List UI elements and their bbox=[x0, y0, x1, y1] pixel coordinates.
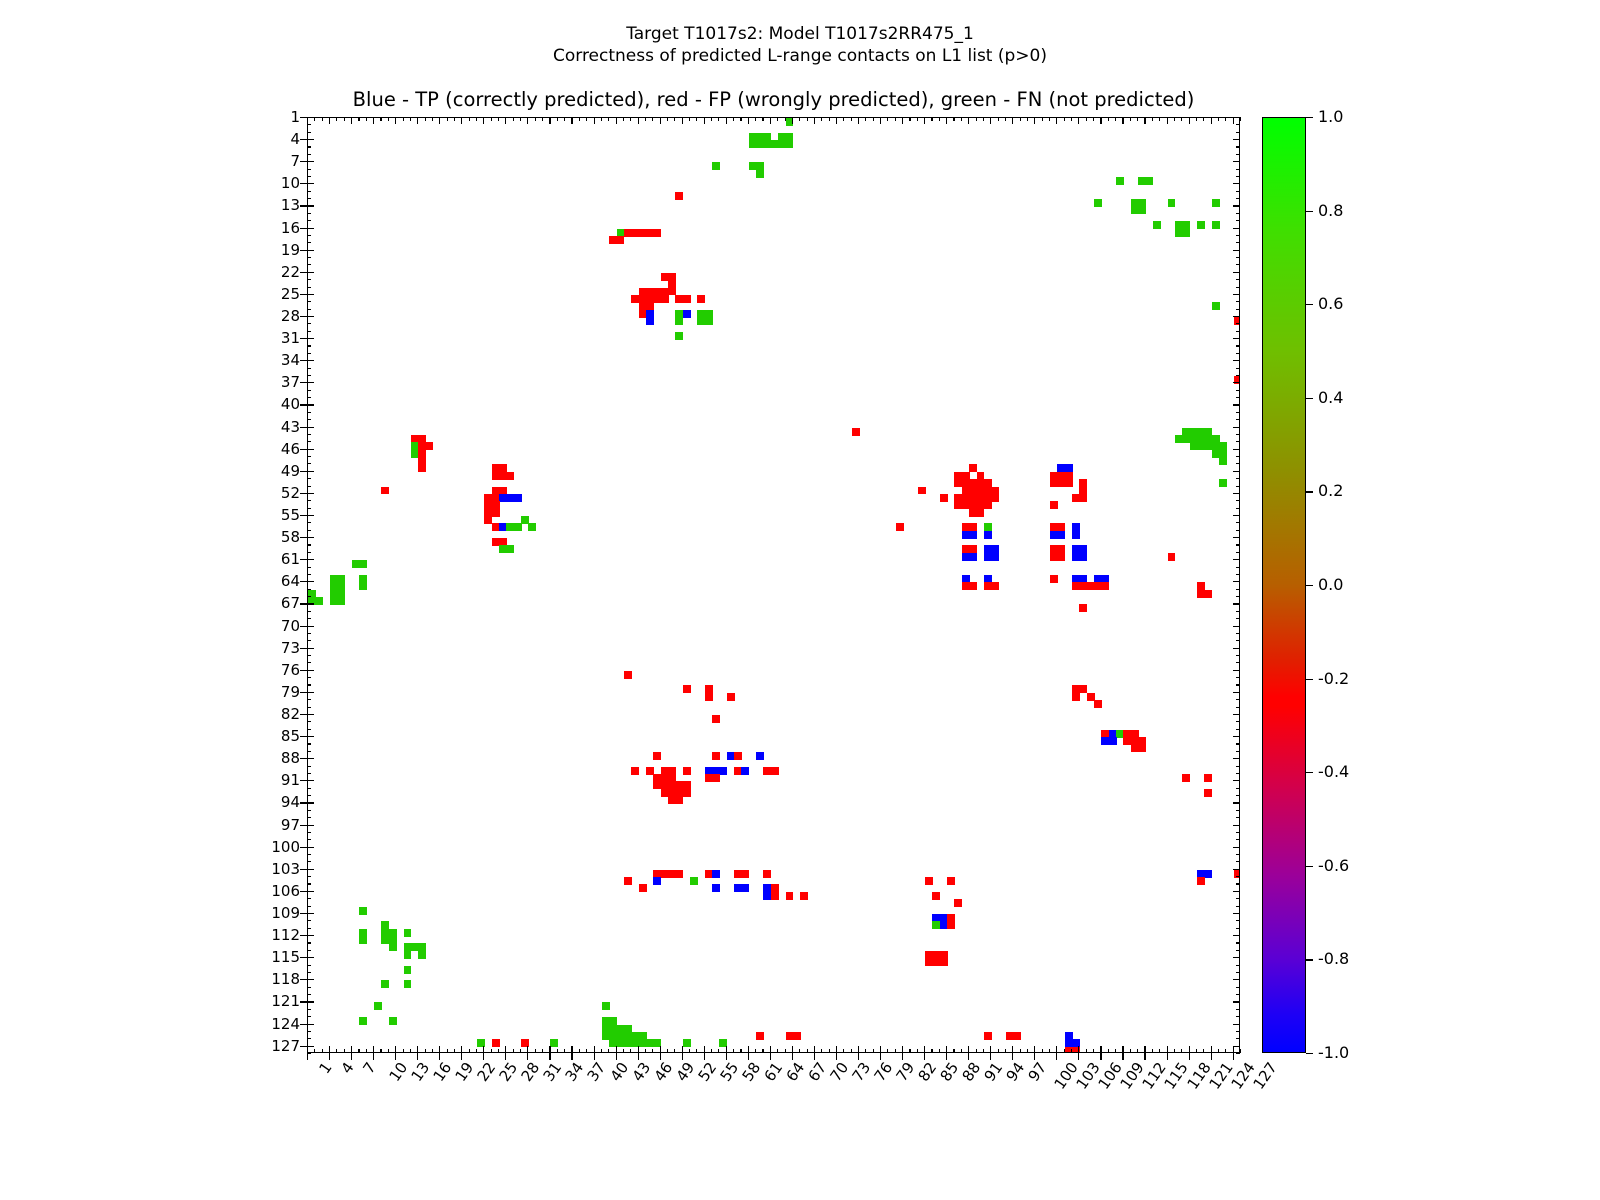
contact-cell bbox=[771, 892, 779, 900]
x-tick-mark bbox=[887, 1049, 888, 1053]
contact-cell bbox=[404, 980, 412, 988]
x-tick-label: 25 bbox=[497, 1060, 520, 1084]
contact-cell bbox=[1094, 700, 1102, 708]
contact-cell bbox=[359, 560, 367, 568]
y-tick-mark bbox=[1236, 397, 1240, 398]
y-tick-mark bbox=[1236, 1009, 1240, 1010]
x-tick-mark bbox=[564, 1049, 565, 1053]
x-tick-mark bbox=[682, 117, 683, 124]
y-tick-mark bbox=[307, 707, 311, 708]
y-tick-label: 106 bbox=[271, 884, 300, 899]
colorbar-tick-label: 0.6 bbox=[1318, 296, 1343, 312]
x-tick-mark bbox=[1144, 1046, 1145, 1053]
colorbar-tick-label: -0.6 bbox=[1318, 858, 1349, 874]
x-tick-label: 88 bbox=[960, 1060, 983, 1084]
colorbar-tick-label: 0.0 bbox=[1318, 577, 1343, 593]
x-tick-mark bbox=[461, 1046, 462, 1053]
x-tick-label: 34 bbox=[564, 1060, 587, 1084]
x-tick-label: 43 bbox=[630, 1060, 653, 1084]
y-tick-mark bbox=[307, 684, 311, 685]
y-tick-mark bbox=[307, 567, 311, 568]
y-tick-mark bbox=[307, 655, 311, 656]
contact-cell bbox=[624, 671, 632, 679]
contact-cell bbox=[984, 1032, 992, 1040]
x-tick-mark bbox=[711, 117, 712, 121]
y-tick-mark bbox=[300, 736, 307, 737]
y-tick-mark bbox=[1236, 1038, 1240, 1039]
y-tick-mark bbox=[307, 331, 311, 332]
contact-cell bbox=[404, 929, 412, 937]
x-tick-mark bbox=[939, 1049, 940, 1053]
contact-cell bbox=[315, 597, 323, 605]
y-tick-mark bbox=[307, 883, 311, 884]
y-tick-mark bbox=[300, 404, 307, 405]
x-tick-mark bbox=[425, 117, 426, 121]
x-tick-mark bbox=[645, 1049, 646, 1053]
x-tick-mark bbox=[336, 117, 337, 121]
x-tick-mark bbox=[674, 1049, 675, 1053]
x-tick-mark bbox=[924, 117, 925, 124]
y-tick-mark bbox=[300, 294, 307, 295]
x-tick-mark bbox=[696, 117, 697, 121]
x-tick-mark bbox=[417, 1046, 418, 1053]
x-tick-mark bbox=[417, 117, 418, 124]
contact-cell bbox=[1197, 221, 1205, 229]
x-tick-mark bbox=[667, 117, 668, 121]
x-tick-mark bbox=[601, 117, 602, 121]
contact-cell bbox=[918, 487, 926, 495]
x-tick-mark bbox=[865, 1049, 866, 1053]
y-tick-label: 55 bbox=[281, 508, 300, 523]
contact-cell bbox=[631, 767, 639, 775]
contact-cell bbox=[683, 789, 691, 797]
y-tick-mark bbox=[1236, 906, 1240, 907]
y-tick-mark bbox=[1233, 1024, 1240, 1025]
y-tick-mark bbox=[1236, 861, 1240, 862]
figure-suptitle-line2: Correctness of predicted L-range contact… bbox=[0, 44, 1600, 68]
y-tick-mark bbox=[1236, 235, 1240, 236]
x-tick-mark bbox=[836, 117, 837, 124]
contact-cell bbox=[1219, 457, 1227, 465]
x-tick-mark bbox=[586, 117, 587, 121]
y-tick-mark bbox=[1236, 331, 1240, 332]
y-tick-mark bbox=[307, 353, 311, 354]
y-tick-mark bbox=[307, 1024, 314, 1025]
x-tick-label: 40 bbox=[608, 1060, 631, 1084]
x-tick-mark bbox=[1174, 117, 1175, 121]
contact-cell bbox=[675, 870, 683, 878]
y-tick-mark bbox=[1236, 839, 1240, 840]
y-tick-mark bbox=[1236, 500, 1240, 501]
y-tick-mark bbox=[307, 1038, 311, 1039]
contact-cell bbox=[514, 494, 522, 502]
y-tick-mark bbox=[307, 589, 311, 590]
x-tick-mark bbox=[549, 117, 550, 124]
colorbar-gradient bbox=[1262, 117, 1306, 1053]
contact-cell bbox=[639, 884, 647, 892]
y-tick-mark bbox=[307, 264, 311, 265]
contact-cell bbox=[984, 531, 992, 539]
colorbar-tick-label: 0.4 bbox=[1318, 390, 1343, 406]
y-tick-mark bbox=[307, 169, 311, 170]
x-tick-mark bbox=[704, 1046, 705, 1053]
contact-cell bbox=[683, 767, 691, 775]
contact-cell bbox=[991, 494, 999, 502]
axes-title-legend: Blue - TP (correctly predicted), red - F… bbox=[307, 88, 1240, 111]
contact-cell bbox=[925, 877, 933, 885]
y-tick-mark bbox=[307, 508, 311, 509]
y-tick-label: 13 bbox=[281, 198, 300, 213]
contact-cell bbox=[506, 472, 514, 480]
y-tick-label: 52 bbox=[281, 486, 300, 501]
y-tick-mark bbox=[307, 906, 311, 907]
y-tick-mark bbox=[1233, 161, 1240, 162]
x-tick-mark bbox=[1049, 117, 1050, 121]
y-tick-mark bbox=[307, 427, 314, 428]
x-tick-mark bbox=[953, 117, 954, 121]
y-tick-mark bbox=[307, 876, 311, 877]
y-tick-mark bbox=[307, 309, 311, 310]
x-tick-label: 127 bbox=[1251, 1060, 1280, 1092]
y-tick-mark bbox=[307, 463, 311, 464]
y-tick-mark bbox=[1236, 920, 1240, 921]
y-tick-mark bbox=[307, 795, 311, 796]
y-tick-mark bbox=[1236, 169, 1240, 170]
x-tick-label: 91 bbox=[982, 1060, 1005, 1084]
contact-cell bbox=[337, 597, 345, 605]
y-tick-mark bbox=[300, 427, 307, 428]
y-tick-label: 70 bbox=[281, 619, 300, 634]
y-tick-mark bbox=[1236, 810, 1240, 811]
y-tick-mark bbox=[307, 272, 314, 273]
x-tick-mark bbox=[762, 1049, 763, 1053]
x-tick-mark bbox=[887, 117, 888, 121]
y-tick-label: 19 bbox=[281, 243, 300, 258]
x-tick-mark bbox=[322, 117, 323, 121]
x-tick-mark bbox=[1167, 1046, 1168, 1053]
x-tick-mark bbox=[344, 117, 345, 121]
x-tick-mark bbox=[579, 1049, 580, 1053]
x-tick-label: 97 bbox=[1026, 1060, 1049, 1084]
y-tick-mark bbox=[1236, 721, 1240, 722]
x-tick-mark bbox=[998, 117, 999, 121]
x-tick-mark bbox=[1211, 1053, 1212, 1060]
y-tick-mark bbox=[1236, 287, 1240, 288]
y-tick-mark bbox=[1236, 412, 1240, 413]
y-tick-mark bbox=[307, 176, 311, 177]
y-tick-mark bbox=[1233, 714, 1240, 715]
y-tick-mark bbox=[1236, 191, 1240, 192]
x-tick-mark bbox=[1189, 117, 1190, 124]
y-tick-mark bbox=[307, 419, 311, 420]
contact-cell bbox=[690, 877, 698, 885]
y-tick-label: 73 bbox=[281, 641, 300, 656]
y-tick-mark bbox=[307, 692, 314, 693]
x-tick-mark bbox=[498, 1049, 499, 1053]
contact-cell bbox=[712, 162, 720, 170]
x-tick-label: 52 bbox=[696, 1060, 719, 1084]
y-tick-mark bbox=[300, 382, 307, 383]
y-tick-mark bbox=[307, 257, 311, 258]
y-tick-mark bbox=[1236, 684, 1240, 685]
x-tick-mark bbox=[689, 117, 690, 121]
y-tick-mark bbox=[300, 780, 307, 781]
y-tick-mark bbox=[307, 449, 314, 450]
contact-cell bbox=[756, 1032, 764, 1040]
x-tick-label: 85 bbox=[938, 1060, 961, 1084]
x-tick-mark bbox=[1064, 1049, 1065, 1053]
y-tick-mark bbox=[307, 205, 314, 206]
contact-cell bbox=[661, 295, 669, 303]
y-tick-mark bbox=[307, 780, 314, 781]
y-tick-mark bbox=[300, 250, 307, 251]
x-tick-mark bbox=[1005, 117, 1006, 121]
x-tick-mark bbox=[594, 1046, 595, 1053]
x-tick-mark bbox=[1137, 117, 1138, 121]
y-tick-mark bbox=[1233, 670, 1240, 671]
x-tick-mark bbox=[836, 1046, 837, 1053]
x-tick-mark bbox=[1086, 1049, 1087, 1053]
y-tick-mark bbox=[300, 869, 307, 870]
y-tick-mark bbox=[307, 228, 314, 229]
x-tick-label: 79 bbox=[894, 1060, 917, 1084]
contact-cell bbox=[984, 501, 992, 509]
y-tick-mark bbox=[1236, 419, 1240, 420]
y-tick-mark bbox=[1236, 596, 1240, 597]
x-tick-mark bbox=[616, 1046, 617, 1053]
colorbar-tick-mark bbox=[1306, 1053, 1313, 1054]
contact-cell bbox=[734, 752, 742, 760]
y-tick-mark bbox=[1236, 972, 1240, 973]
contact-cell bbox=[1138, 744, 1146, 752]
x-tick-mark bbox=[726, 117, 727, 124]
x-tick-mark bbox=[843, 1049, 844, 1053]
x-tick-mark bbox=[1233, 1053, 1234, 1060]
x-tick-mark bbox=[660, 1046, 661, 1053]
y-tick-mark bbox=[307, 847, 314, 848]
x-tick-mark bbox=[1020, 117, 1021, 121]
x-tick-mark bbox=[520, 1049, 521, 1053]
y-tick-mark bbox=[300, 338, 307, 339]
y-tick-mark bbox=[1236, 640, 1240, 641]
colorbar-tick-mark bbox=[1306, 866, 1313, 867]
x-tick-mark bbox=[748, 1046, 749, 1053]
contact-cell bbox=[852, 428, 860, 436]
x-axis-tick-labels: 1471013161922252831343740434649525558616… bbox=[307, 1060, 1240, 1140]
y-tick-mark bbox=[307, 338, 314, 339]
x-tick-mark bbox=[1240, 117, 1241, 121]
contact-cell bbox=[1212, 221, 1220, 229]
y-tick-mark bbox=[1236, 368, 1240, 369]
x-tick-mark bbox=[1056, 117, 1057, 124]
x-tick-mark bbox=[307, 1046, 308, 1053]
x-tick-mark bbox=[909, 117, 910, 121]
y-tick-mark bbox=[307, 183, 314, 184]
y-tick-mark bbox=[307, 530, 311, 531]
x-tick-mark bbox=[336, 1049, 337, 1053]
x-tick-mark bbox=[469, 1049, 470, 1053]
x-tick-mark bbox=[351, 1053, 352, 1060]
y-tick-mark bbox=[1233, 449, 1240, 450]
y-tick-mark bbox=[307, 345, 311, 346]
x-tick-mark bbox=[829, 1049, 830, 1053]
x-tick-mark bbox=[931, 1049, 932, 1053]
y-tick-mark bbox=[307, 486, 311, 487]
y-tick-label: 94 bbox=[281, 795, 300, 810]
contact-cell bbox=[359, 907, 367, 915]
y-tick-mark bbox=[300, 758, 307, 759]
y-tick-mark bbox=[1236, 773, 1240, 774]
y-tick-mark bbox=[1236, 743, 1240, 744]
x-tick-mark bbox=[843, 117, 844, 121]
x-tick-mark bbox=[380, 1049, 381, 1053]
y-tick-mark bbox=[307, 832, 311, 833]
y-tick-mark bbox=[307, 132, 311, 133]
x-tick-mark bbox=[549, 1046, 550, 1053]
y-tick-mark bbox=[1236, 544, 1240, 545]
y-tick-label: 4 bbox=[290, 132, 300, 147]
y-tick-mark bbox=[1236, 751, 1240, 752]
y-tick-mark bbox=[307, 935, 314, 936]
x-tick-mark bbox=[373, 1046, 374, 1053]
x-tick-mark bbox=[623, 117, 624, 121]
y-tick-mark bbox=[1233, 847, 1240, 848]
x-tick-mark bbox=[1056, 1053, 1057, 1060]
x-tick-mark bbox=[785, 117, 786, 121]
contact-cell bbox=[389, 943, 397, 951]
x-tick-mark bbox=[439, 117, 440, 124]
x-tick-mark bbox=[924, 1046, 925, 1053]
y-tick-mark bbox=[307, 920, 311, 921]
y-tick-label: 64 bbox=[281, 574, 300, 589]
x-tick-mark bbox=[1225, 117, 1226, 121]
y-tick-mark bbox=[300, 493, 307, 494]
y-tick-mark bbox=[300, 648, 307, 649]
contact-cell bbox=[1079, 604, 1087, 612]
y-tick-mark bbox=[307, 751, 311, 752]
contact-cell bbox=[741, 767, 749, 775]
contact-cell bbox=[646, 317, 654, 325]
y-tick-mark bbox=[307, 758, 314, 759]
x-tick-mark bbox=[1115, 117, 1116, 121]
contact-cell bbox=[374, 1002, 382, 1010]
y-tick-mark bbox=[307, 250, 314, 251]
y-tick-mark bbox=[300, 1046, 307, 1047]
y-tick-mark bbox=[300, 360, 307, 361]
contact-cell bbox=[653, 877, 661, 885]
x-tick-mark bbox=[821, 117, 822, 121]
y-tick-label: 100 bbox=[271, 840, 300, 855]
y-tick-mark bbox=[307, 397, 311, 398]
y-tick-mark bbox=[307, 1001, 314, 1002]
x-tick-label: 1 bbox=[317, 1060, 335, 1076]
x-tick-mark bbox=[571, 1046, 572, 1053]
x-tick-mark bbox=[630, 1049, 631, 1053]
x-tick-mark bbox=[513, 1049, 514, 1053]
y-tick-mark bbox=[1233, 360, 1240, 361]
x-tick-mark bbox=[1086, 117, 1087, 121]
contact-cell bbox=[1182, 229, 1190, 237]
contact-cell bbox=[1204, 789, 1212, 797]
x-tick-mark bbox=[1027, 117, 1028, 121]
y-tick-mark bbox=[307, 603, 314, 604]
y-tick-mark bbox=[1236, 552, 1240, 553]
colorbar-tick-mark bbox=[1306, 398, 1313, 399]
x-tick-mark bbox=[1159, 117, 1160, 121]
y-tick-mark bbox=[307, 412, 311, 413]
contact-cell bbox=[969, 531, 977, 539]
x-tick-mark bbox=[608, 117, 609, 121]
y-tick-mark bbox=[307, 854, 311, 855]
y-tick-mark bbox=[307, 242, 311, 243]
x-tick-mark bbox=[351, 1046, 352, 1053]
x-tick-mark bbox=[902, 1046, 903, 1053]
y-tick-mark bbox=[1236, 309, 1240, 310]
x-tick-mark bbox=[1181, 117, 1182, 121]
y-tick-mark bbox=[307, 611, 311, 612]
y-tick-label: 79 bbox=[281, 685, 300, 700]
contact-map-figure: Target T1017s2: Model T1017s2RR475_1 Cor… bbox=[0, 0, 1600, 1200]
y-tick-mark bbox=[307, 360, 314, 361]
contact-cell bbox=[1079, 487, 1087, 495]
y-tick-mark bbox=[1233, 382, 1240, 383]
contact-cell bbox=[756, 170, 764, 178]
contact-cell bbox=[1109, 737, 1117, 745]
y-tick-mark bbox=[307, 500, 311, 501]
x-tick-label: 10 bbox=[387, 1060, 410, 1084]
contact-cell bbox=[712, 774, 720, 782]
y-tick-mark bbox=[307, 146, 311, 147]
y-tick-mark bbox=[307, 559, 314, 560]
colorbar-tick-mark bbox=[1306, 211, 1313, 212]
y-tick-mark bbox=[1233, 581, 1240, 582]
x-tick-mark bbox=[366, 117, 367, 121]
colorbar-tick-label: -0.2 bbox=[1318, 671, 1349, 687]
contact-cell bbox=[528, 523, 536, 531]
x-tick-mark bbox=[961, 1049, 962, 1053]
x-tick-mark bbox=[1056, 1046, 1057, 1053]
y-tick-mark bbox=[1236, 618, 1240, 619]
contact-cell bbox=[381, 487, 389, 495]
x-tick-mark bbox=[1189, 1053, 1190, 1060]
x-tick-mark bbox=[1152, 1049, 1153, 1053]
contact-cell bbox=[1057, 553, 1065, 561]
x-tick-mark bbox=[527, 1046, 528, 1053]
y-tick-mark bbox=[307, 456, 311, 457]
x-tick-mark bbox=[858, 1046, 859, 1053]
x-tick-mark bbox=[329, 1046, 330, 1053]
y-tick-label: 43 bbox=[281, 420, 300, 435]
y-tick-mark bbox=[1236, 883, 1240, 884]
y-tick-mark bbox=[300, 117, 307, 118]
y-tick-mark bbox=[307, 987, 311, 988]
y-tick-label: 85 bbox=[281, 729, 300, 744]
x-tick-mark bbox=[1167, 117, 1168, 124]
y-tick-mark bbox=[1233, 493, 1240, 494]
contact-cell bbox=[418, 951, 426, 959]
contact-cell bbox=[492, 509, 500, 517]
x-tick-mark bbox=[1225, 1049, 1226, 1053]
x-tick-mark bbox=[469, 117, 470, 121]
y-tick-mark bbox=[307, 581, 314, 582]
x-tick-mark bbox=[425, 1049, 426, 1053]
x-tick-mark bbox=[1211, 1046, 1212, 1053]
y-tick-mark bbox=[1233, 228, 1240, 229]
contact-cell bbox=[506, 545, 514, 553]
x-tick-mark bbox=[366, 1049, 367, 1053]
y-tick-mark bbox=[307, 640, 311, 641]
x-tick-mark bbox=[608, 1049, 609, 1053]
